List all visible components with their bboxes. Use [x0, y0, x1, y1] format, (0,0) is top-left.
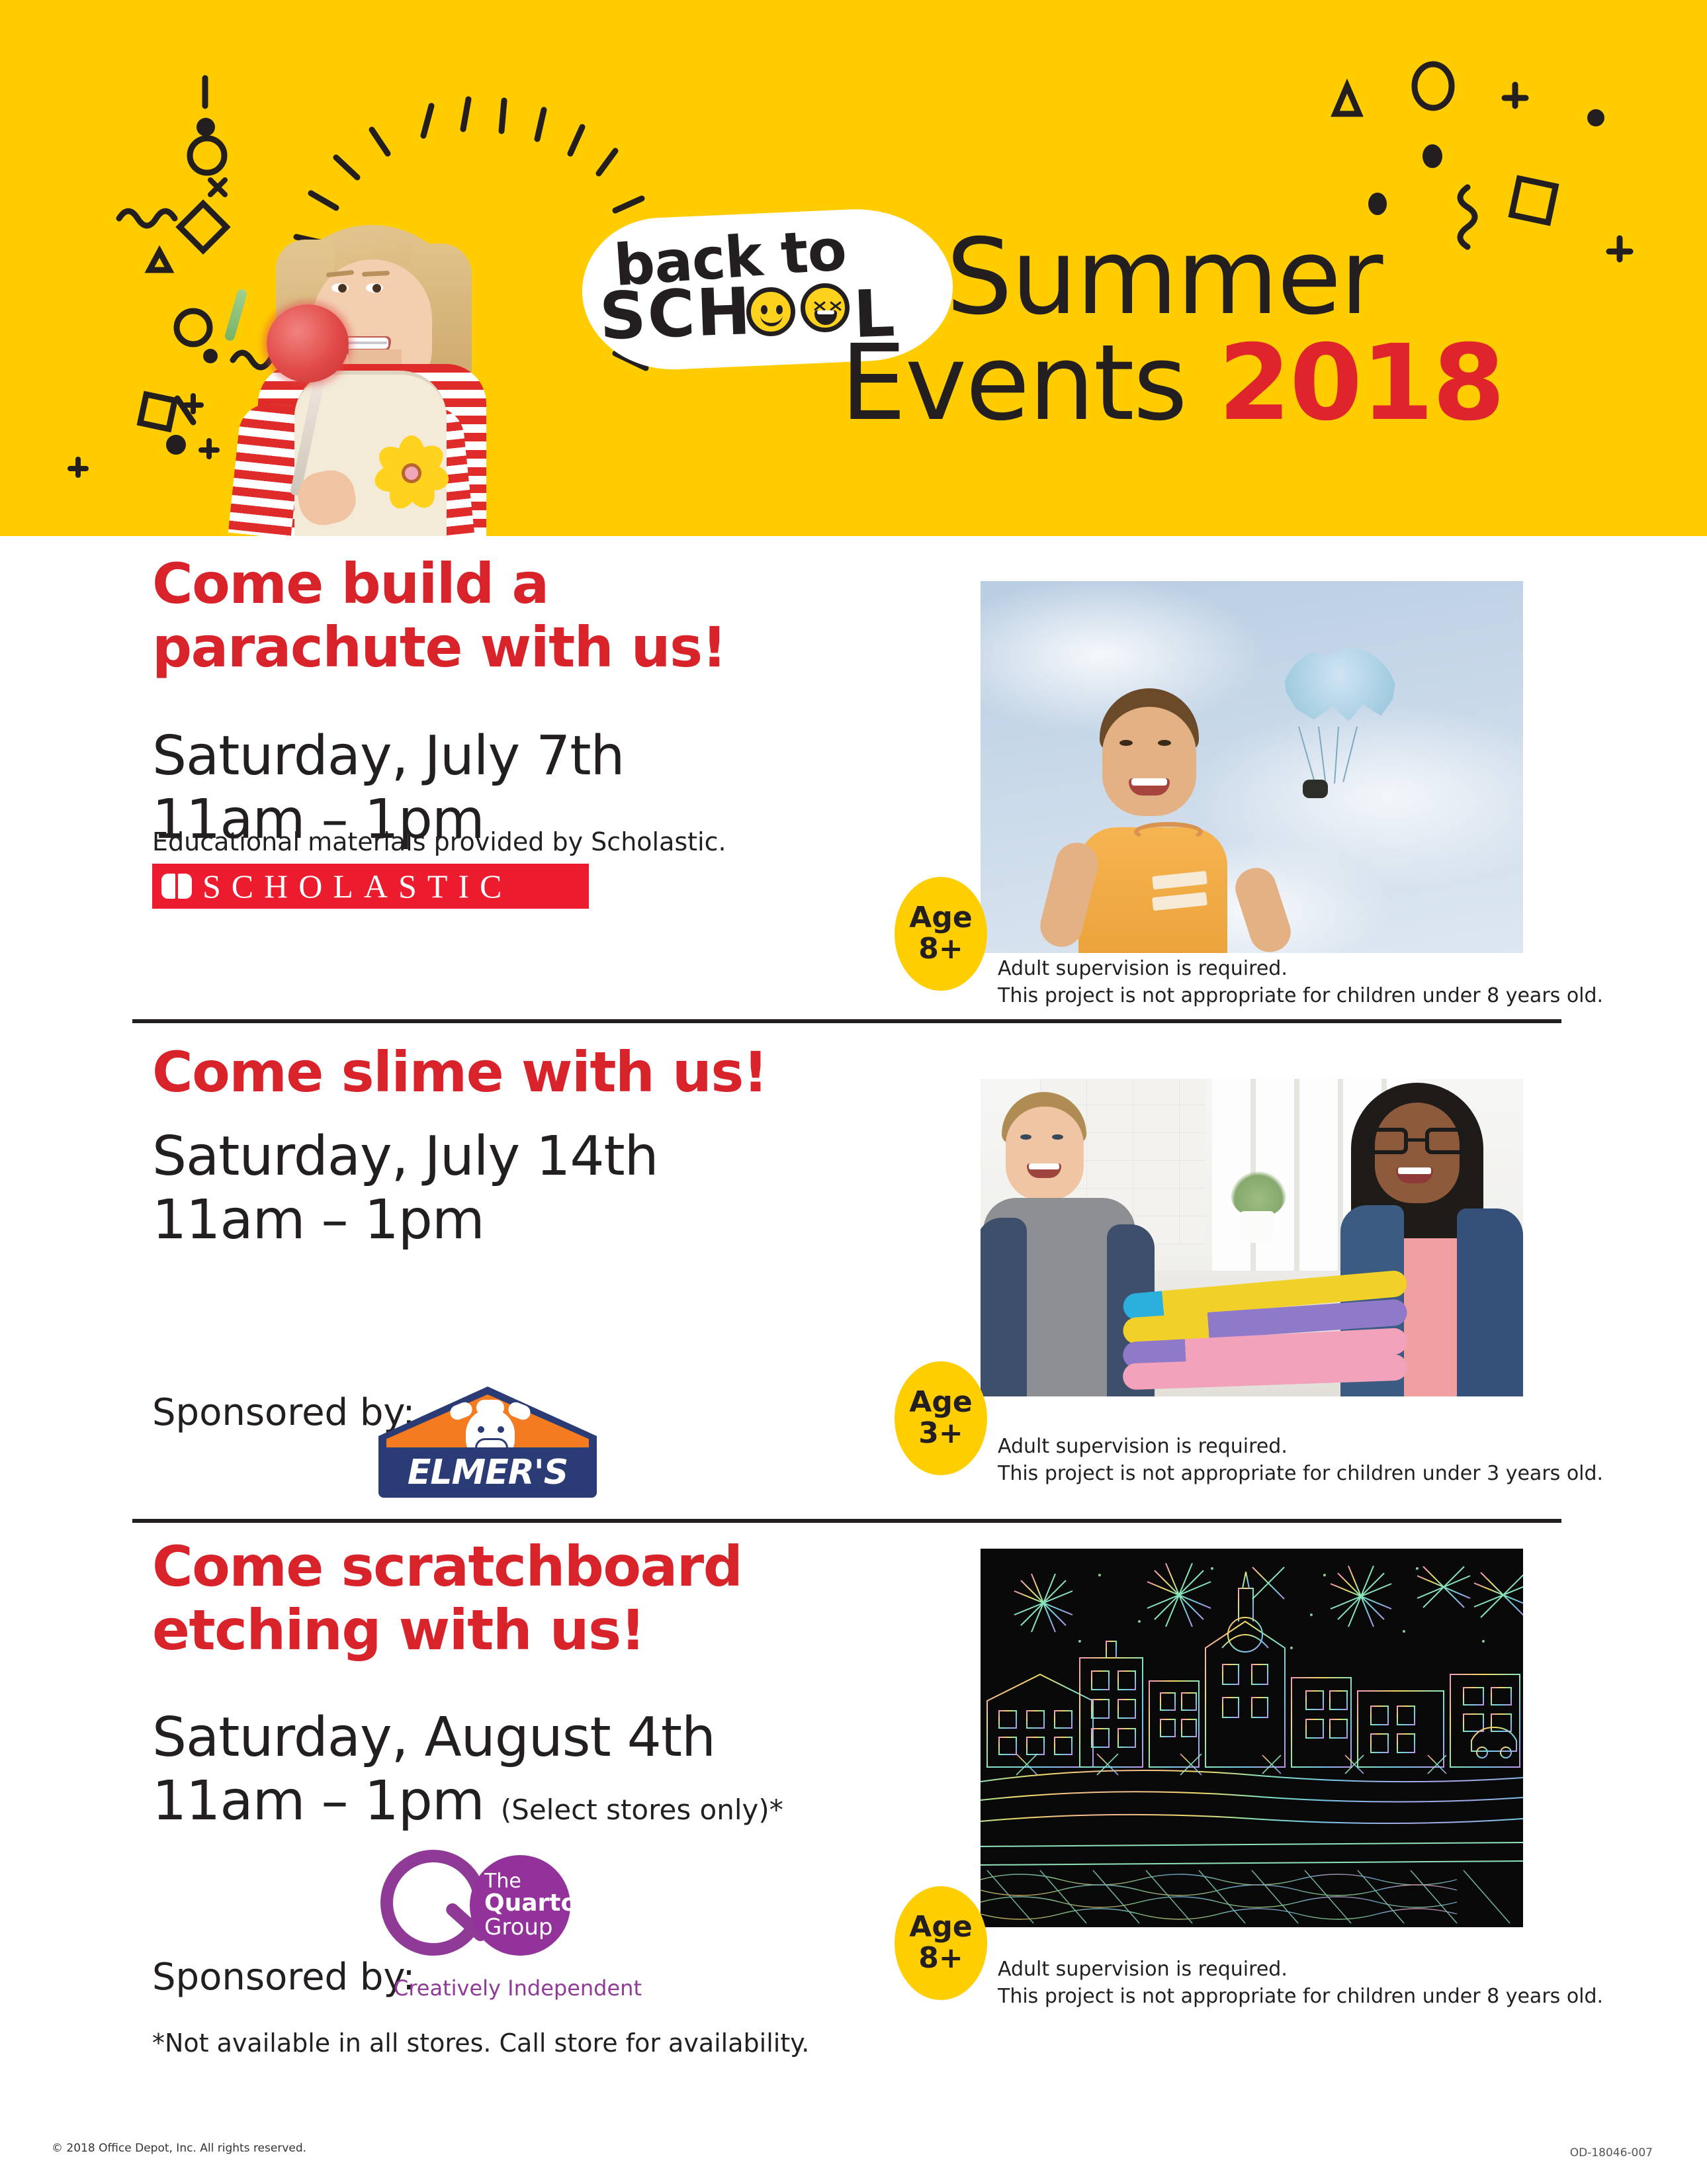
headline-line-2: etching with us!: [152, 1599, 742, 1662]
age-label: Age: [909, 1912, 972, 1943]
age-badge-8-plus: Age 8+: [895, 1886, 987, 2000]
document-code: OD-18046-007: [1570, 2146, 1653, 2160]
supervision-line-2: This project is not appropriate for chil…: [998, 1983, 1603, 2010]
scholastic-wordmark: SCHOLASTIC: [202, 867, 512, 905]
event-note: Educational materials provided by Schola…: [152, 827, 726, 856]
title-events-row: Events 2018: [840, 331, 1504, 435]
quarto-tagline: Creatively Independent: [394, 1976, 642, 2001]
slime-photo: [981, 1079, 1523, 1396]
event-time: 11am – 1pm: [152, 1770, 484, 1833]
event-date: Saturday, August 4th: [152, 1706, 783, 1770]
sponsor-label: Sponsored by:: [152, 1956, 415, 1999]
quarto-group-logo: The Quarto Group: [380, 1843, 572, 1966]
event-headline: Come slime with us!: [152, 1041, 767, 1105]
quarto-the: The: [484, 1872, 570, 1892]
age-badge-8-plus: Age 8+: [895, 877, 987, 991]
header-banner: back to SCH L Summer Events 2018: [0, 0, 1707, 536]
event-headline: Come scratchboard etching with us!: [152, 1535, 742, 1662]
supervision-line-2: This project is not appropriate for chil…: [998, 982, 1603, 1009]
supervision-line-2: This project is not appropriate for chil…: [998, 1460, 1603, 1487]
age-label: Age: [909, 1387, 972, 1418]
headline-line-1: Come build a: [152, 553, 726, 616]
girl-with-pompom-pen-photo: [162, 113, 506, 536]
title-summer: Summer: [946, 225, 1381, 330]
event-time-suffix: (Select stores only)*: [501, 1794, 783, 1826]
supervision-note: Adult supervision is required. This proj…: [998, 1956, 1603, 2011]
parachute-photo: [981, 581, 1523, 953]
supervision-note: Adult supervision is required. This proj…: [998, 955, 1603, 1010]
age-badge-3-plus: Age 3+: [895, 1361, 987, 1475]
age-value: 8+: [918, 934, 963, 965]
event-time: 11am – 1pm: [152, 1189, 658, 1252]
availability-footnote: *Not available in all stores. Call store…: [152, 2028, 809, 2058]
open-book-icon: [161, 874, 192, 899]
quarto-name: Quarto: [484, 1891, 570, 1916]
elmers-wordmark: ELMER'S: [408, 1453, 568, 1492]
sponsor-label: Sponsored by:: [152, 1391, 415, 1434]
quarto-group: Group: [484, 1916, 570, 1940]
stretched-slime: [1123, 1282, 1407, 1385]
event-date: Saturday, July 7th: [152, 725, 624, 788]
age-value: 3+: [918, 1418, 963, 1449]
logo-line-school: SCH: [598, 274, 753, 355]
event-datetime: Saturday, July 14th 11am – 1pm: [152, 1125, 658, 1252]
event-headline: Come build a parachute with us!: [152, 553, 726, 680]
headline-line-1: Come scratchboard: [152, 1535, 742, 1599]
title-events: Events: [840, 322, 1186, 444]
event-time-row: 11am – 1pm (Select stores only)*: [152, 1770, 783, 1833]
supervision-line-1: Adult supervision is required.: [998, 1956, 1603, 1983]
scratchboard-photo: [981, 1549, 1523, 1927]
smiley-wink-icon: [746, 287, 795, 336]
supervision-note: Adult supervision is required. This proj…: [998, 1433, 1603, 1488]
event-date: Saturday, July 14th: [152, 1125, 658, 1189]
scholastic-logo: SCHOLASTIC: [152, 864, 589, 909]
age-value: 8+: [918, 1943, 963, 1974]
supervision-line-1: Adult supervision is required.: [998, 955, 1603, 982]
elmers-logo: ELMER'S: [378, 1387, 597, 1498]
event-datetime: Saturday, August 4th 11am – 1pm (Select …: [152, 1706, 783, 1833]
copyright-notice: © 2018 Office Depot, Inc. All rights res…: [52, 2142, 306, 2155]
headline-line-2: parachute with us!: [152, 616, 726, 680]
supervision-line-1: Adult supervision is required.: [998, 1433, 1603, 1460]
headline-line-1: Come slime with us!: [152, 1041, 767, 1105]
title-year: 2018: [1218, 322, 1504, 444]
age-label: Age: [909, 903, 972, 934]
